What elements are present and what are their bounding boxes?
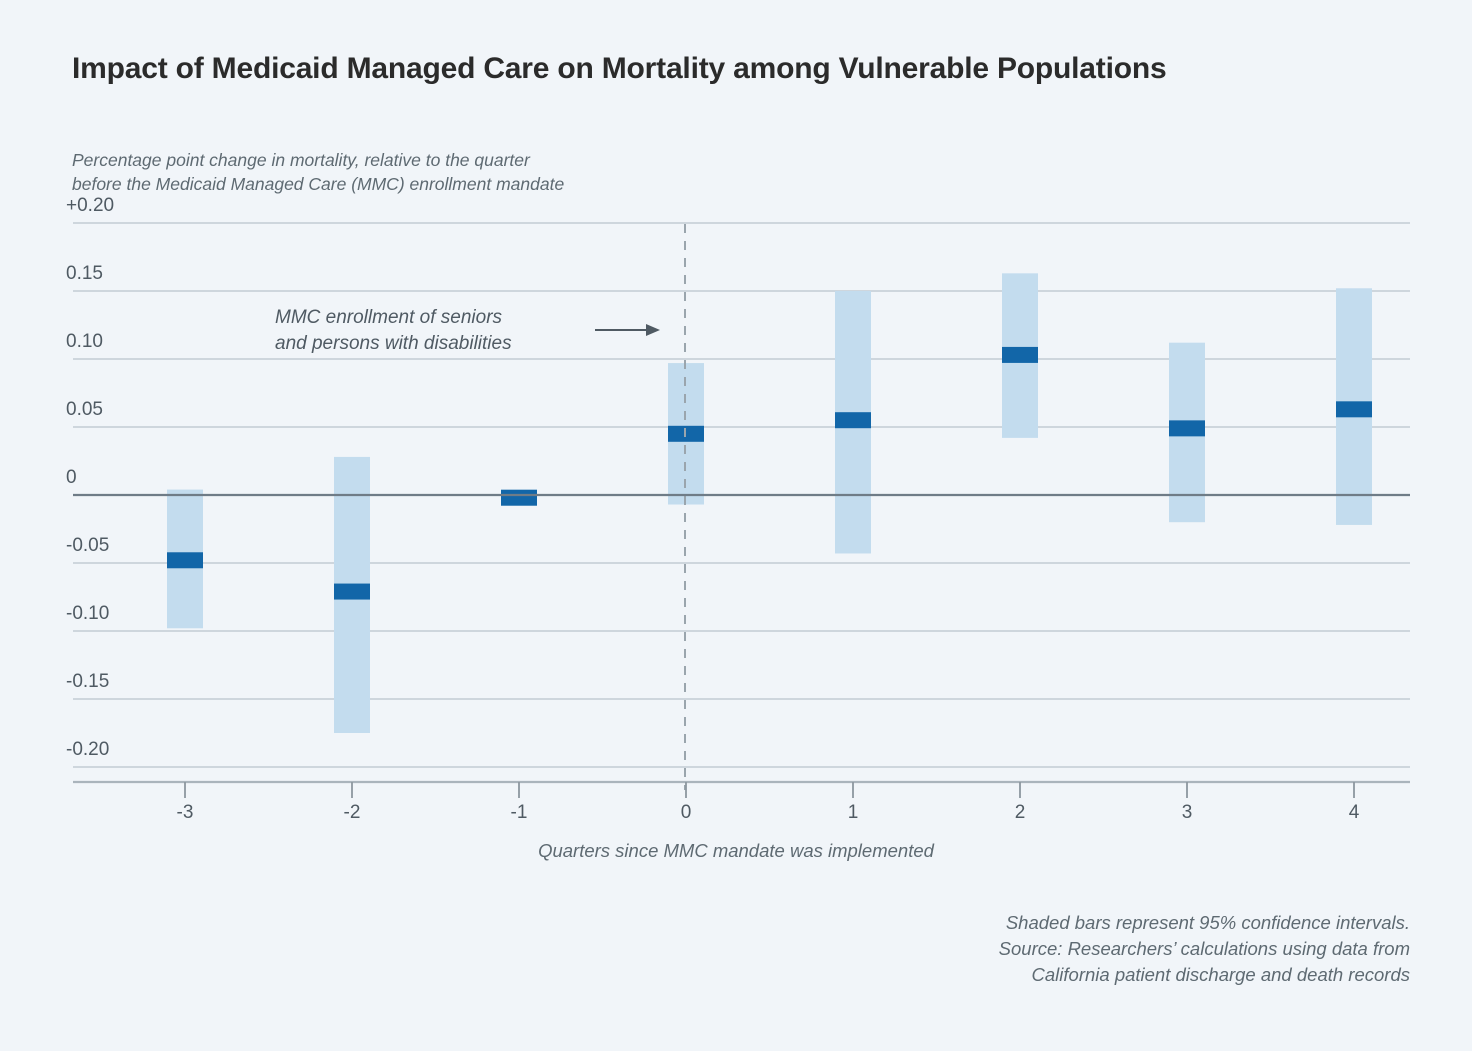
point-estimate-marker xyxy=(501,490,537,506)
source-footnote: Shaded bars represent 95% confidence int… xyxy=(999,910,1410,988)
y-axis-tick-label: -0.10 xyxy=(66,603,109,625)
x-axis-ticks xyxy=(185,782,1354,798)
chart-canvas xyxy=(0,0,1472,1051)
y-axis-tick-label: +0.20 xyxy=(66,195,114,217)
point-estimate-marker xyxy=(167,552,203,568)
point-estimate-marker xyxy=(1336,401,1372,417)
mandate-annotation: MMC enrollment of seniors and persons wi… xyxy=(275,305,512,357)
annotation-arrow-icon xyxy=(595,324,660,336)
y-axis-tick-label: -0.20 xyxy=(66,739,109,761)
x-axis-tick-label: 4 xyxy=(1314,802,1394,824)
y-axis-tick-label: 0.05 xyxy=(66,399,103,421)
x-axis-tick-label: -3 xyxy=(145,802,225,824)
point-estimate-marker xyxy=(334,584,370,600)
point-estimate-marker xyxy=(1002,347,1038,363)
x-axis-caption: Quarters since MMC mandate was implement… xyxy=(0,840,1472,862)
y-axis-tick-label: 0.15 xyxy=(66,263,103,285)
y-axis-tick-label: 0.10 xyxy=(66,331,103,353)
y-axis-tick-label: -0.15 xyxy=(66,671,109,693)
point-estimate-marker xyxy=(835,412,871,428)
chart-page: Impact of Medicaid Managed Care on Morta… xyxy=(0,0,1472,1051)
y-axis-tick-label: -0.05 xyxy=(66,535,109,557)
x-axis-tick-label: 3 xyxy=(1147,802,1227,824)
x-axis-tick-label: 1 xyxy=(813,802,893,824)
x-axis-tick-label: 0 xyxy=(646,802,726,824)
point-estimate-marker xyxy=(1169,420,1205,436)
y-axis-tick-label: 0 xyxy=(66,467,77,489)
x-axis-tick-label: -2 xyxy=(312,802,392,824)
x-axis-tick-label: -1 xyxy=(479,802,559,824)
x-axis-tick-label: 2 xyxy=(980,802,1060,824)
